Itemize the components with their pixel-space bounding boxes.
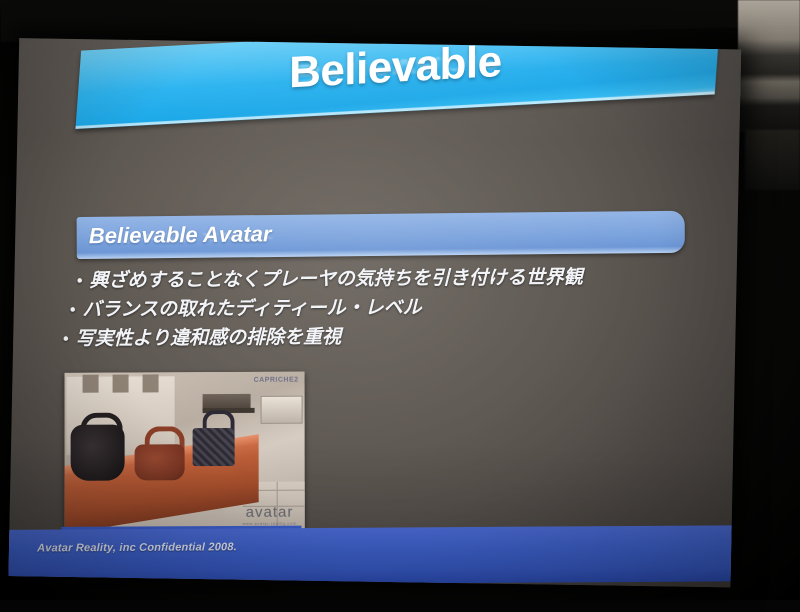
photo-watermark-name: avatar bbox=[242, 504, 296, 521]
photo-handbag-black bbox=[71, 425, 125, 481]
list-item: • 興ざめすることなくプレーヤの気持ちを引き付ける世界観 bbox=[77, 262, 703, 295]
slide-subtitle: Believable Avatar bbox=[89, 213, 649, 253]
photo-mirror bbox=[261, 396, 303, 424]
photo-wall-slot bbox=[83, 375, 99, 393]
bullet-marker-icon: • bbox=[63, 325, 69, 354]
photo-watermark: avatar www.avatar-reality.com bbox=[242, 504, 296, 526]
presentation-slide: Believable Believable Believable Avatar … bbox=[8, 38, 741, 587]
projection-screen: Believable Believable Believable Avatar … bbox=[0, 0, 766, 612]
footer-band bbox=[8, 525, 741, 586]
photo-handbag-tote bbox=[193, 428, 235, 466]
photo-wall-slot bbox=[143, 374, 159, 392]
bullet-text: バランスの取れたディティール・レベル bbox=[82, 293, 421, 324]
bullet-text: 興ざめすることなくプレーヤの気持ちを引き付ける世界観 bbox=[89, 263, 583, 295]
bullet-list: • 興ざめすることなくプレーヤの気持ちを引き付ける世界観 • バランスの取れたデ… bbox=[63, 262, 703, 353]
list-item: • バランスの取れたディティール・レベル bbox=[70, 291, 703, 324]
list-item: • 写実性より違和感の排除を重視 bbox=[63, 320, 703, 353]
photo-corner-logo: CAPRICHE2 bbox=[254, 377, 299, 384]
footer-text: Avatar Reality, inc Confidential 2008. bbox=[37, 541, 237, 554]
bullet-marker-icon: • bbox=[70, 296, 76, 325]
bullet-marker-icon: • bbox=[77, 267, 83, 296]
photo-handbag-brown bbox=[135, 444, 185, 480]
slide-photo: CAPRICHE2 avatar www.avatar-reality.com bbox=[65, 372, 305, 533]
bullet-text: 写実性より違和感の排除を重視 bbox=[75, 323, 341, 354]
photo-wall-slot bbox=[113, 375, 129, 393]
